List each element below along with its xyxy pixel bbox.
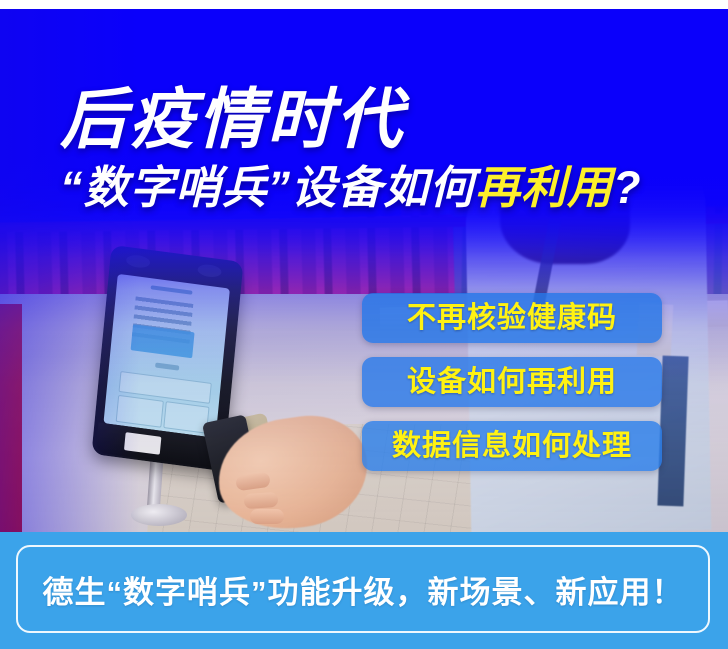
bottom-banner: 德生“数字哨兵”功能升级，新场景、新应用！ [0, 532, 728, 649]
feature-list: 不再核验健康码 设备如何再利用 数据信息如何处理 [362, 293, 662, 485]
feature-chip-health-code-label: 不再核验健康码 [407, 303, 617, 333]
feature-chip-device-reuse-label: 设备如何再利用 [407, 367, 617, 397]
feature-chip-health-code[interactable]: 不再核验健康码 [362, 293, 662, 343]
hero-photo-area: 后疫情时代 “数字哨兵”设备如何再利用? 不再核验健康码 设备如何再利用 数据信… [0, 4, 728, 532]
left-vignette [0, 4, 140, 532]
bottom-banner-frame: 德生“数字哨兵”功能升级，新场景、新应用！ [16, 545, 710, 633]
feature-chip-device-reuse[interactable]: 设备如何再利用 [362, 357, 662, 407]
bottom-banner-text: 德生“数字哨兵”功能升级，新场景、新应用！ [43, 567, 684, 612]
top-white-strip [0, 4, 728, 9]
poster-root: 后疫情时代 “数字哨兵”设备如何再利用? 不再核验健康码 设备如何再利用 数据信… [0, 0, 728, 649]
feature-chip-data-handling-label: 数据信息如何处理 [392, 431, 632, 461]
feature-chip-data-handling[interactable]: 数据信息如何处理 [362, 421, 662, 471]
